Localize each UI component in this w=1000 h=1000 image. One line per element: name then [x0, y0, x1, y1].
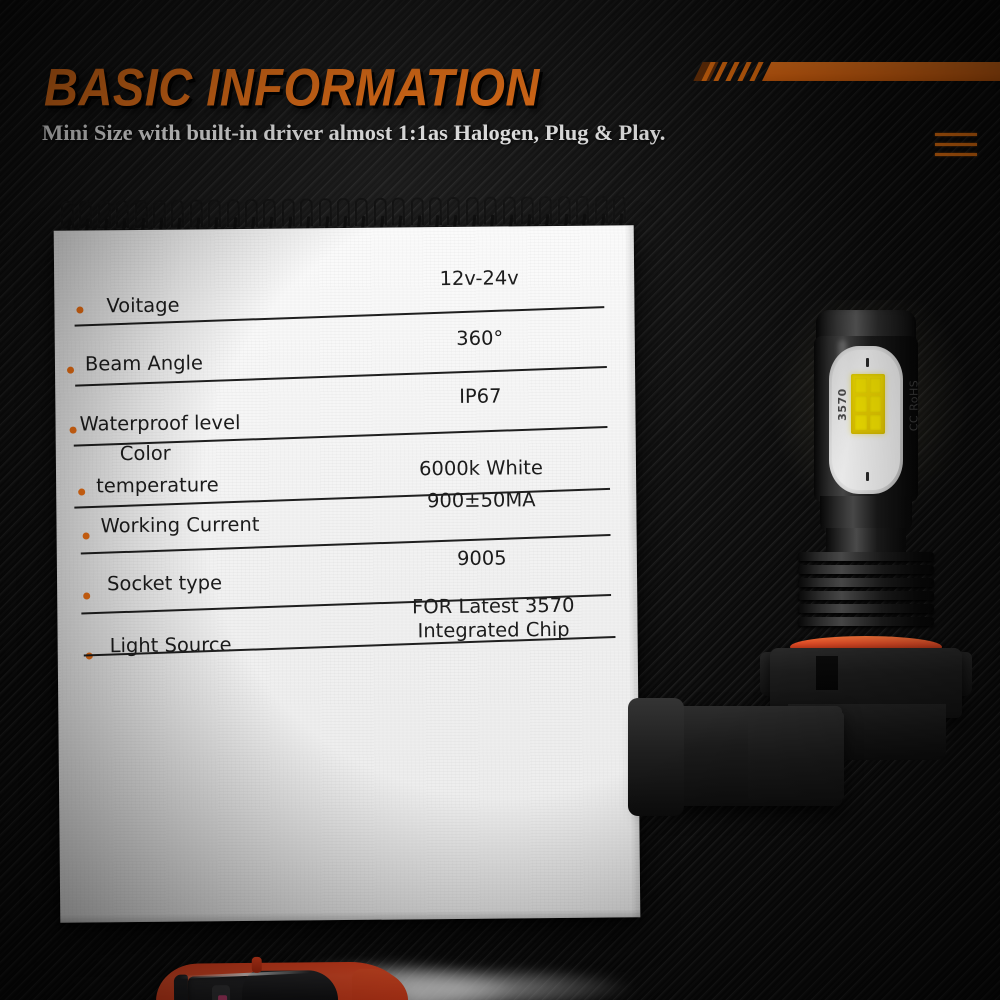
row-label: Socket type	[107, 571, 222, 595]
led-segment	[855, 396, 867, 411]
accent-bar-body	[762, 62, 1000, 81]
car-mirror	[252, 957, 262, 973]
heatsink-fin	[798, 552, 934, 561]
heatsink-fin	[798, 578, 934, 587]
notepad-sheet: Voitage 12v-24v Beam Angle 360° Waterpro…	[54, 225, 641, 923]
row-label: Waterproof level	[79, 411, 240, 436]
led-segment	[870, 378, 882, 393]
row-bullet	[78, 489, 85, 496]
hamburger-line	[935, 133, 977, 136]
bulb-highlight	[838, 340, 847, 490]
connector-end-cap	[628, 698, 684, 816]
hamburger-icon	[935, 133, 977, 161]
spec-table: Voitage 12v-24v Beam Angle 360° Waterpro…	[54, 225, 641, 923]
certification-label: CC RoHS	[907, 380, 920, 432]
hamburger-line	[935, 143, 977, 146]
row-value-line1: FOR Latest 3570	[385, 594, 601, 619]
row-bullet	[67, 367, 74, 374]
car-nose	[352, 968, 409, 1000]
car-interior-light	[218, 995, 227, 1000]
red-car-top-view	[156, 955, 407, 1000]
bulb-tick-mark	[866, 358, 869, 367]
connector-plug-face	[748, 712, 844, 800]
heatsink-fin	[798, 591, 934, 600]
heatsink-fin	[798, 565, 934, 574]
row-label: Voitage	[106, 294, 179, 318]
bulb-tick-mark	[866, 472, 869, 481]
row-bullet	[83, 592, 90, 599]
led-chip-segments	[855, 378, 881, 430]
led-segment	[855, 378, 867, 393]
heatsink-fins	[798, 552, 934, 632]
row-bullet	[83, 532, 90, 539]
slash-mark	[749, 62, 763, 81]
row-value: 9005	[387, 546, 577, 571]
heatsink-fin	[798, 604, 934, 613]
infographic-page: BASIC INFORMATION Mini Size with built-i…	[0, 0, 1000, 1000]
page-title: BASIC INFORMATION	[44, 56, 540, 118]
row-label: Working Current	[100, 513, 259, 538]
led-chip	[851, 374, 885, 434]
row-value: 6000k White	[386, 456, 576, 481]
led-segment	[870, 396, 882, 411]
header-accent-bar	[700, 62, 1000, 92]
row-value: 12v-24v	[384, 266, 574, 291]
car-rear-window	[174, 975, 189, 1000]
row-value: IP67	[385, 384, 575, 409]
row-value: 900±50MA	[386, 488, 576, 513]
led-segment	[870, 415, 882, 430]
row-label-line1: Color	[120, 442, 171, 465]
row-bullet	[70, 427, 77, 434]
row-label: Beam Angle	[85, 351, 203, 375]
socket-notch	[816, 656, 838, 690]
page-subtitle: Mini Size with built-in driver almost 1:…	[42, 120, 665, 146]
led-segment	[855, 415, 867, 430]
row-bullet	[76, 307, 83, 314]
row-label-line2: temperature	[96, 473, 219, 497]
heatsink-fin	[798, 617, 934, 626]
hamburger-line	[935, 153, 977, 156]
led-bulb-9005: 3570 CC RoHS	[620, 300, 1000, 880]
row-value: 360°	[385, 326, 575, 351]
